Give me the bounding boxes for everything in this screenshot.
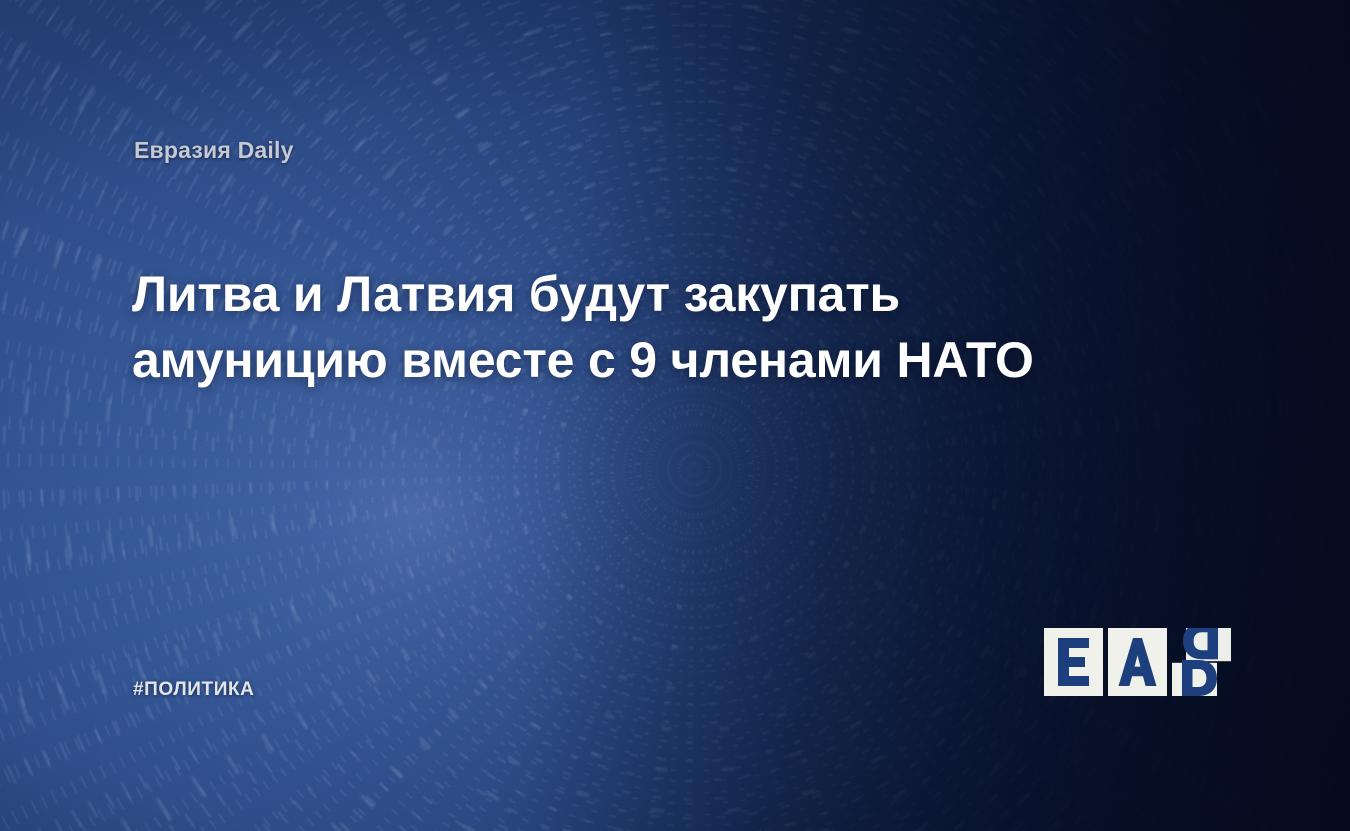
logo-tile-e xyxy=(1044,628,1103,696)
card-content: Евразия Daily Литва и Латвия будут закуп… xyxy=(0,0,1350,831)
logo-tile-d-split xyxy=(1172,628,1231,696)
site-brand-name: Евразия Daily xyxy=(134,137,294,164)
social-share-card: Евразия Daily Литва и Латвия будут закуп… xyxy=(0,0,1350,831)
eadaily-logo xyxy=(1044,628,1231,696)
category-hashtag: #ПОЛИТИКА xyxy=(133,679,255,701)
logo-tile-a xyxy=(1108,628,1167,696)
article-headline: Литва и Латвия будут закупать амуницию в… xyxy=(132,262,1152,393)
